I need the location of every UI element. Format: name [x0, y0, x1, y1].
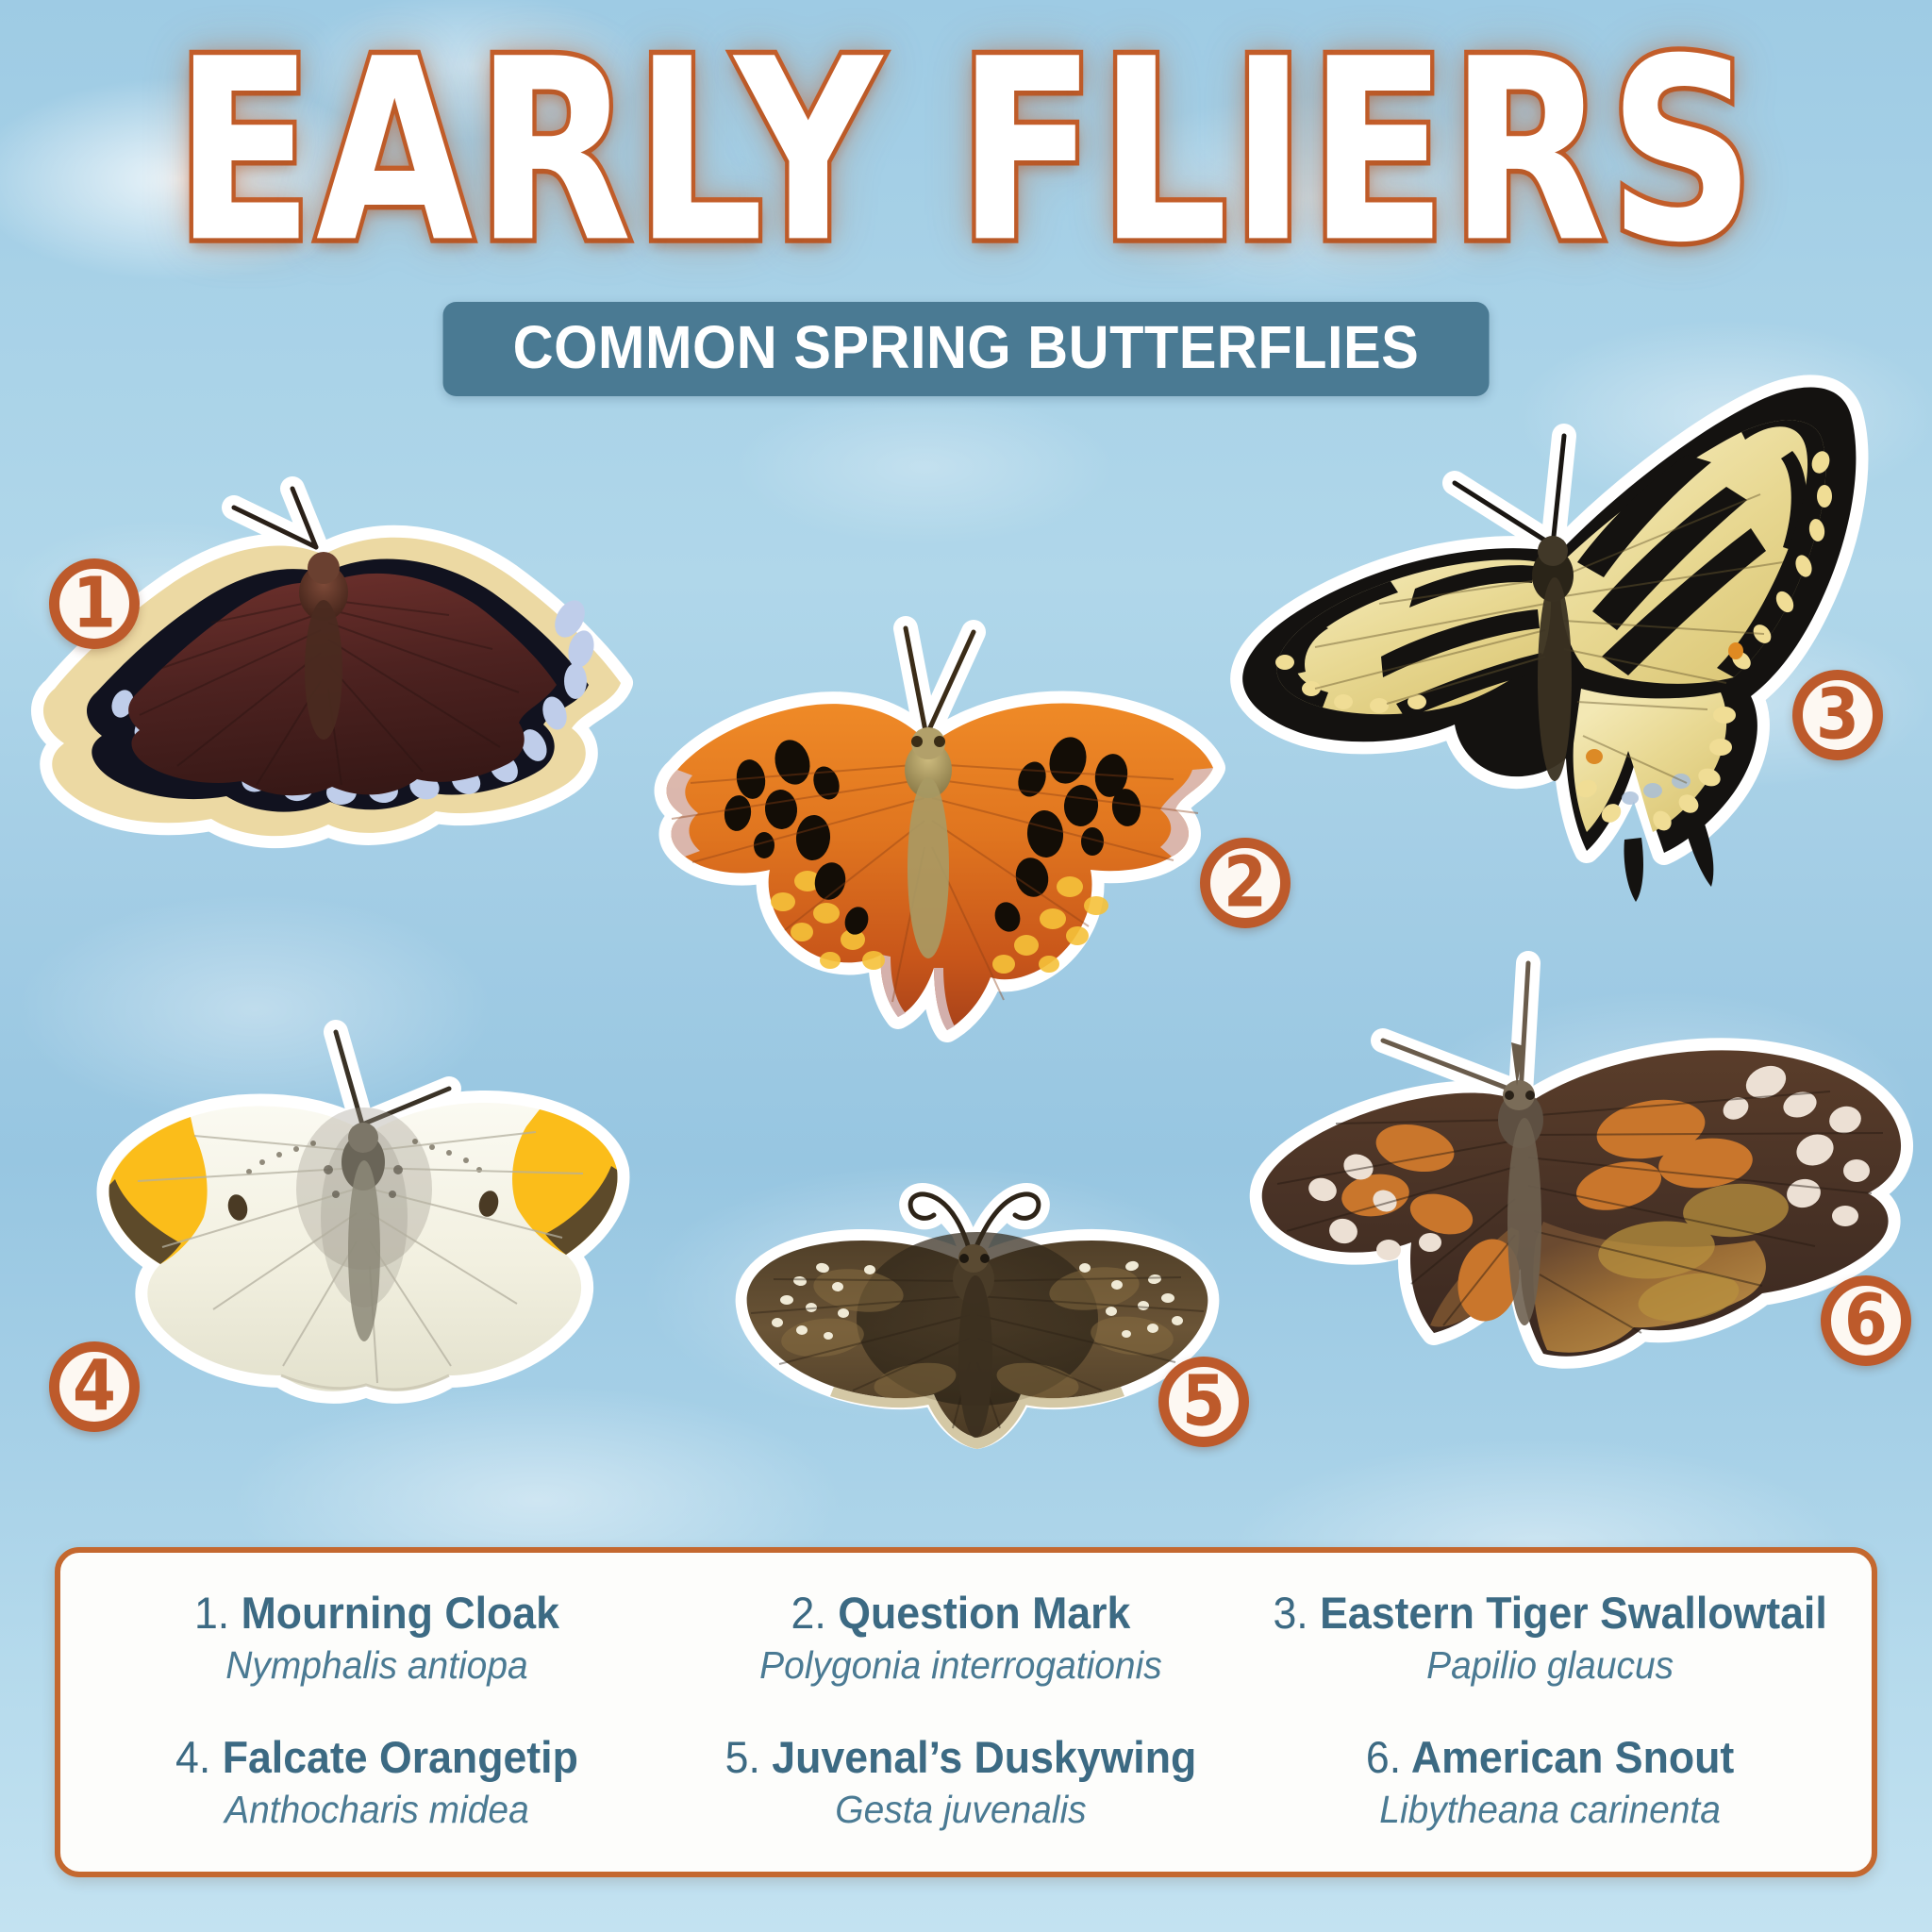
legend-item-4: 4. Falcate Orangetip Anthocharis midea [85, 1734, 669, 1831]
badge-3: 3 [1792, 670, 1883, 760]
legend-common-name-2: 2. Question Mark [689, 1590, 1233, 1637]
legend-name-3: Eastern Tiger Swallowtail [1320, 1588, 1827, 1638]
legend-number-3: 3. [1273, 1588, 1307, 1638]
legend-number-2: 2. [791, 1588, 825, 1638]
badge-number: 5 [1182, 1367, 1225, 1437]
legend-scientific-name-5: Gesta juvenalis [689, 1789, 1233, 1831]
legend-scientific-name-6: Libytheana carinenta [1273, 1789, 1826, 1831]
badge-4: 4 [49, 1341, 140, 1432]
legend-number-5: 5. [725, 1732, 760, 1782]
legend-name-5: Juvenal’s Duskywing [772, 1732, 1196, 1782]
legend-common-name-6: 6. American Snout [1273, 1734, 1826, 1781]
legend-item-6: 6. American Snout Libytheana carinenta [1253, 1734, 1847, 1831]
legend-item-2: 2. Question Mark Polygonia interrogation… [669, 1590, 1253, 1687]
butterfly-image-eastern-tiger-swallowtail [1217, 377, 1877, 906]
infographic-poster: EARLY FLIERS COMMON SPRING BUTTERFLIES [0, 0, 1932, 1932]
badge-number: 2 [1224, 848, 1267, 918]
legend-item-5: 5. Juvenal’s Duskywing Gesta juvenalis [669, 1734, 1253, 1831]
legend-name-6: American Snout [1411, 1732, 1734, 1782]
legend-number-4: 4. [175, 1732, 210, 1782]
butterfly-image-juvenals-duskywing [717, 1177, 1226, 1498]
badge-number: 3 [1816, 680, 1859, 750]
legend-number-6: 6. [1366, 1732, 1401, 1782]
species-legend-card: 1. Mourning Cloak Nymphalis antiopa 2. Q… [55, 1547, 1877, 1877]
page-title: EARLY FLIERS [29, 26, 1904, 277]
legend-common-name-1: 1. Mourning Cloak [105, 1590, 649, 1637]
legend-scientific-name-2: Polygonia interrogationis [689, 1644, 1233, 1687]
legend-name-4: Falcate Orangetip [223, 1732, 578, 1782]
badge-2: 2 [1200, 838, 1291, 928]
legend-common-name-3: 3. Eastern Tiger Swallowtail [1273, 1590, 1826, 1637]
badge-1: 1 [49, 558, 140, 649]
legend-scientific-name-3: Papilio glaucus [1273, 1644, 1826, 1687]
legend-scientific-name-1: Nymphalis antiopa [105, 1644, 649, 1687]
legend-common-name-5: 5. Juvenal’s Duskywing [689, 1734, 1233, 1781]
legend-name-1: Mourning Cloak [241, 1588, 559, 1638]
badge-number: 6 [1844, 1286, 1888, 1356]
subtitle-text: COMMON SPRING BUTTERFLIES [513, 317, 1420, 377]
legend-number-1: 1. [194, 1588, 229, 1638]
legend-item-1: 1. Mourning Cloak Nymphalis antiopa [85, 1590, 669, 1687]
legend-common-name-4: 4. Falcate Orangetip [105, 1734, 649, 1781]
legend-name-2: Question Mark [838, 1588, 1130, 1638]
legend-scientific-name-4: Anthocharis midea [105, 1789, 649, 1831]
butterfly-image-mourning-cloak [9, 434, 632, 877]
badge-number: 4 [73, 1352, 116, 1422]
legend-item-3: 3. Eastern Tiger Swallowtail Papilio gla… [1253, 1590, 1847, 1687]
badge-number: 1 [73, 569, 116, 639]
butterfly-image-question-mark [626, 594, 1230, 1066]
badge-6: 6 [1821, 1275, 1911, 1366]
badge-5: 5 [1158, 1357, 1249, 1447]
